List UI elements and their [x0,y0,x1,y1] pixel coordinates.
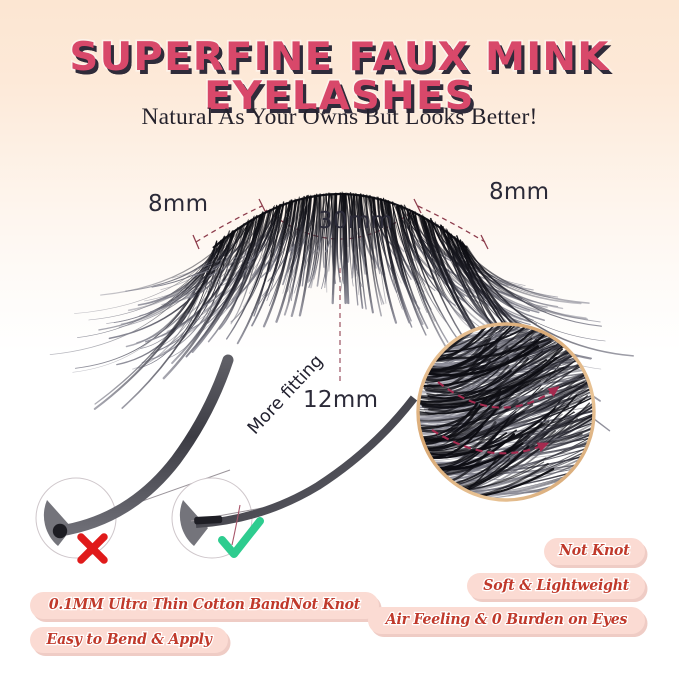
feature-badge-label: Soft & Lightweight [483,576,629,596]
feature-badge: Not Knot [544,538,645,565]
feature-badges-left: 0.1MM Ultra Thin Cotton BandNot Knot Eas… [30,592,379,653]
feature-badge-label: Not Knot [559,541,629,561]
feature-badge: 0.1MM Ultra Thin Cotton BandNot Knot [30,592,379,619]
product-infographic: SUPERFINE FAUX MINK EYELASHES Natural As… [0,0,679,679]
measurement-label-length: 12mm [303,387,378,413]
feature-badge-label: Easy to Bend & Apply [47,630,212,650]
feature-badge-label: 0.1MM Ultra Thin Cotton BandNot Knot [49,595,360,615]
comparison-good [172,398,414,558]
measurement-label-left-width: 8mm [148,191,208,217]
feature-badge: Air Feeling & 0 Burden on Eyes [368,607,645,634]
feature-badge-label: Air Feeling & 0 Burden on Eyes [386,610,627,630]
page-subtitle: Natural As Your Owns But Looks Better! [0,104,679,131]
feature-badges-right: Not Knot Soft & Lightweight Air Feeling … [368,538,645,634]
band-flat-cross-section [194,516,222,525]
measurement-label-right-width: 8mm [489,179,549,205]
feature-badge: Soft & Lightweight [467,573,645,600]
measurement-label-center-width: 30mm [318,208,393,234]
band-cross-section [53,524,67,538]
feature-badge: Easy to Bend & Apply [30,627,228,654]
